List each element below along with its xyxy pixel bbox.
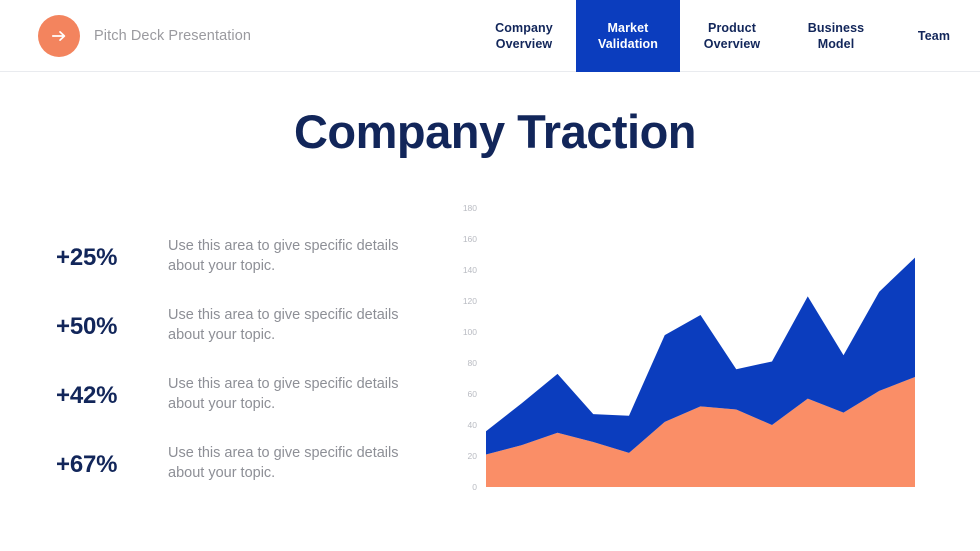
y-axis-tick-label: 100: [463, 327, 477, 337]
stat-row: +25% Use this area to give specific deta…: [56, 236, 436, 305]
y-axis-tick-labels: 020406080100120140160180: [463, 203, 477, 492]
page-title: Company Traction: [0, 104, 980, 159]
nav-item-market-validation[interactable]: Market Validation: [576, 0, 680, 72]
stat-row: +50% Use this area to give specific deta…: [56, 305, 436, 374]
y-axis-tick-label: 0: [472, 482, 477, 492]
brand: Pitch Deck Presentation: [38, 15, 251, 57]
y-axis-tick-label: 80: [468, 358, 478, 368]
y-axis-tick-label: 40: [468, 420, 478, 430]
header-bar: Pitch Deck Presentation Company Overview…: [0, 0, 980, 72]
traction-area-chart: 020406080100120140160180: [455, 200, 925, 500]
stat-description: Use this area to give specific details a…: [168, 305, 436, 345]
stat-description: Use this area to give specific details a…: [168, 443, 436, 483]
stat-value: +25%: [56, 236, 168, 272]
stat-row: +67% Use this area to give specific deta…: [56, 443, 436, 512]
nav-item-team[interactable]: Team: [888, 0, 980, 72]
stats-list: +25% Use this area to give specific deta…: [56, 236, 436, 512]
main-nav: Company Overview Market Validation Produ…: [472, 0, 980, 72]
nav-item-business-model[interactable]: Business Model: [784, 0, 888, 72]
y-axis-tick-label: 140: [463, 265, 477, 275]
y-axis-tick-label: 20: [468, 451, 478, 461]
stat-row: +42% Use this area to give specific deta…: [56, 374, 436, 443]
stat-description: Use this area to give specific details a…: [168, 236, 436, 276]
chart-series: [486, 258, 915, 487]
y-axis-tick-label: 120: [463, 296, 477, 306]
stat-value: +42%: [56, 374, 168, 410]
brand-title: Pitch Deck Presentation: [94, 28, 251, 44]
arrow-right-circle-icon: [38, 15, 80, 57]
y-axis-tick-label: 60: [468, 389, 478, 399]
stat-description: Use this area to give specific details a…: [168, 374, 436, 414]
stat-value: +50%: [56, 305, 168, 341]
nav-item-company-overview[interactable]: Company Overview: [472, 0, 576, 72]
stat-value: +67%: [56, 443, 168, 479]
y-axis-tick-label: 180: [463, 203, 477, 213]
slide-root: Pitch Deck Presentation Company Overview…: [0, 0, 980, 551]
y-axis-tick-label: 160: [463, 234, 477, 244]
nav-item-product-overview[interactable]: Product Overview: [680, 0, 784, 72]
